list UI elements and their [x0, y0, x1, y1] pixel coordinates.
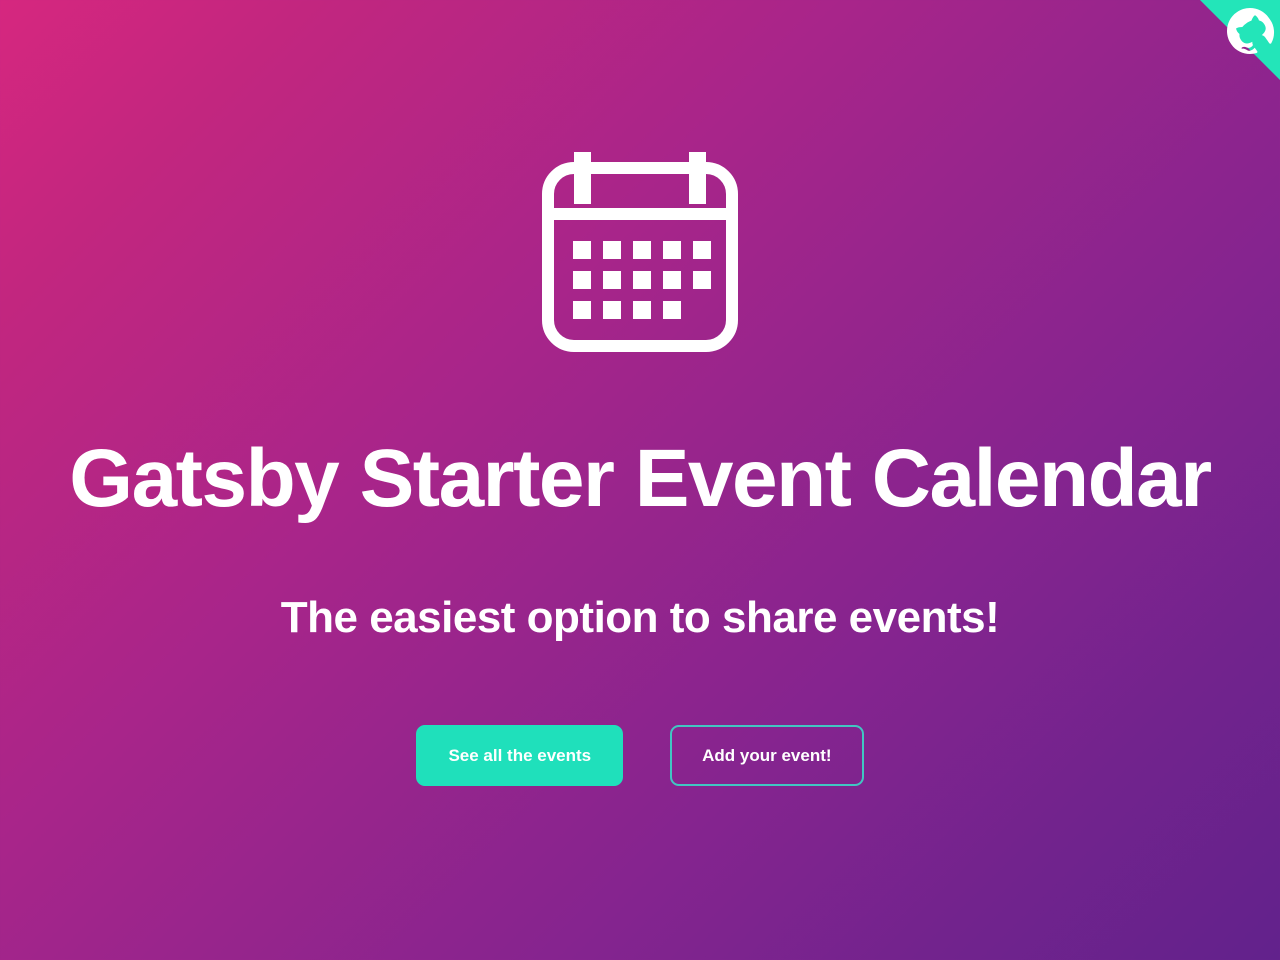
hero-actions: See all the events Add your event!	[416, 725, 863, 786]
page-subtitle: The easiest option to share events!	[281, 596, 999, 640]
hero-section: Gatsby Starter Event Calendar The easies…	[0, 0, 1280, 960]
add-your-event-button[interactable]: Add your event!	[670, 725, 863, 786]
github-corner-link[interactable]	[1200, 0, 1280, 80]
calendar-icon	[542, 152, 738, 352]
page-title: Gatsby Starter Event Calendar	[69, 438, 1210, 520]
see-all-events-button[interactable]: See all the events	[416, 725, 623, 786]
